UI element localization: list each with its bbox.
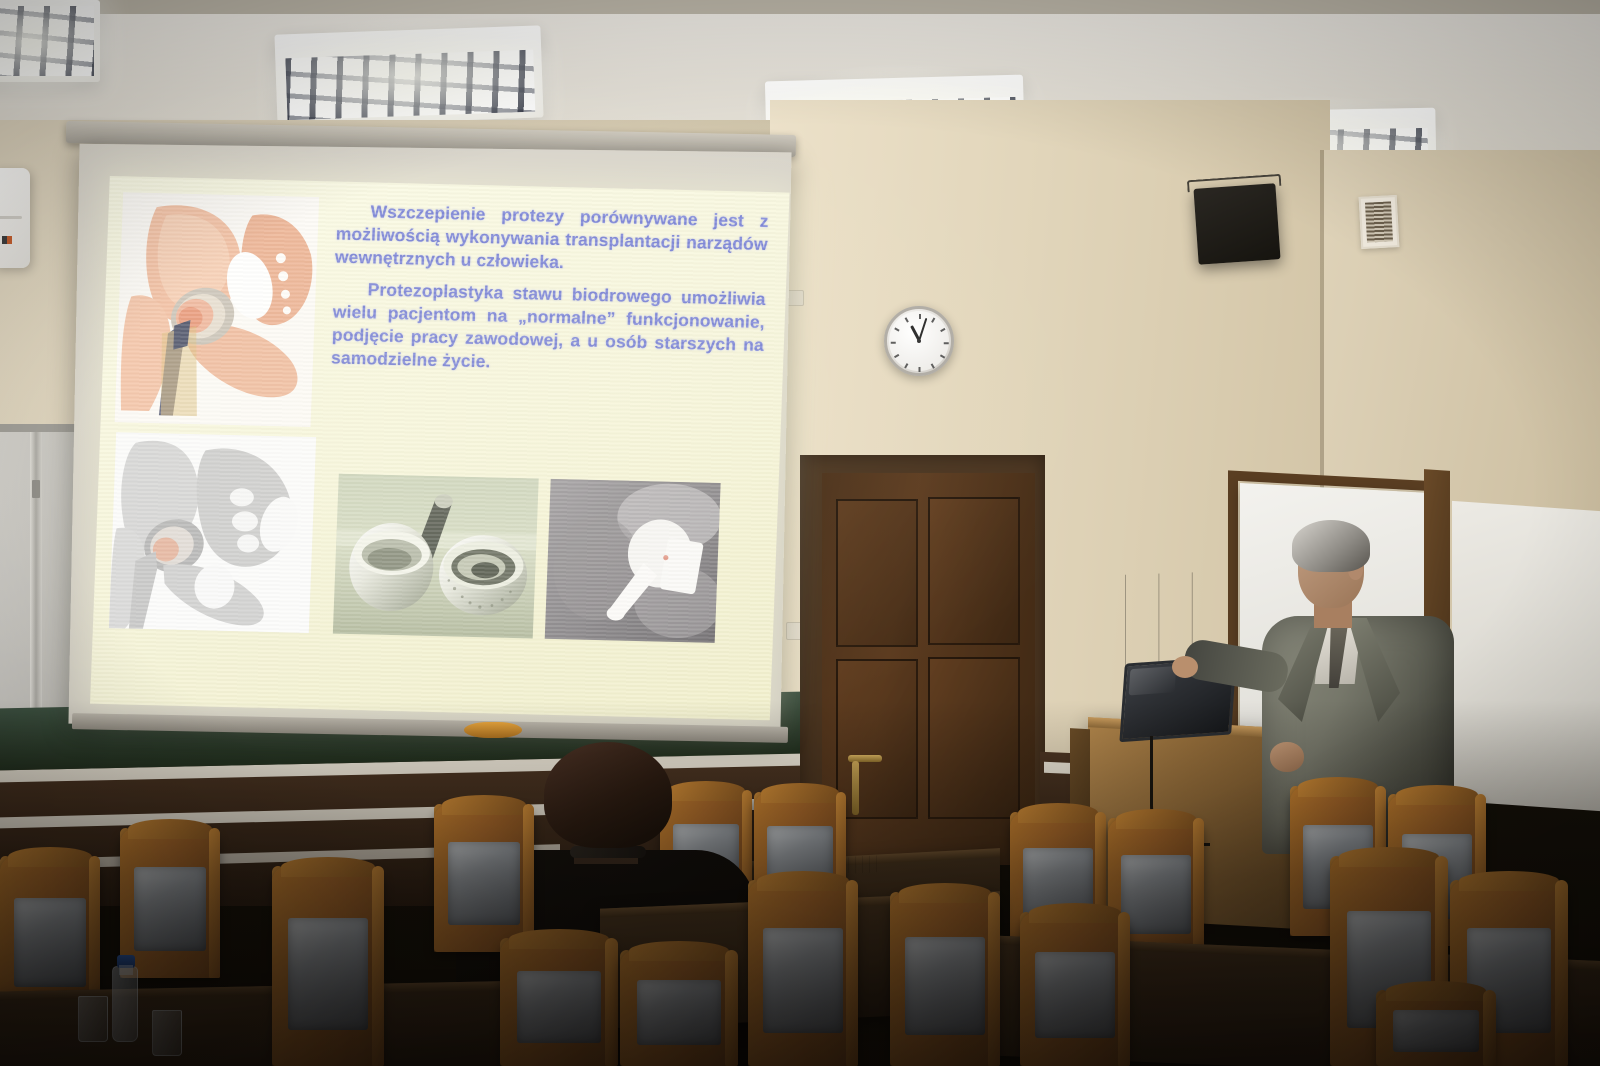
wall-clock bbox=[884, 306, 954, 376]
chair bbox=[748, 880, 858, 1066]
presenter-hair bbox=[1292, 520, 1370, 572]
door-leaf[interactable] bbox=[822, 473, 1035, 865]
slide-text-block: Wszczepienie protezy porównywane jest z … bbox=[331, 200, 769, 380]
slide-paragraph-2: Protezoplastyka stawu biodrowego umożliw… bbox=[331, 278, 766, 380]
chair bbox=[890, 892, 1000, 1066]
ac-indicator-light bbox=[2, 236, 12, 244]
ledge-object bbox=[464, 722, 522, 738]
drinking-glass bbox=[78, 996, 108, 1042]
air-conditioner-unit bbox=[0, 168, 30, 268]
chair bbox=[620, 950, 738, 1066]
slide-paragraph-1: Wszczepienie protezy porównywane jest z … bbox=[335, 200, 769, 279]
chair bbox=[500, 938, 618, 1066]
chair bbox=[1376, 990, 1496, 1066]
attendee-hair bbox=[544, 742, 672, 848]
whiteboard-far bbox=[1452, 501, 1600, 811]
slide-image-prosthesis-cups bbox=[333, 474, 539, 639]
tissue-box bbox=[848, 855, 878, 874]
slide-image-hip-xray bbox=[545, 479, 721, 643]
ceiling-beam bbox=[0, 0, 1600, 14]
wall-speaker bbox=[1193, 183, 1280, 265]
chair bbox=[120, 828, 220, 978]
presenter-hand-on-laptop bbox=[1172, 656, 1198, 678]
ceiling-light-1 bbox=[0, 0, 100, 82]
presentation-slide: Wszczepienie protezy porównywane jest z … bbox=[90, 176, 790, 720]
chair bbox=[272, 866, 384, 1066]
presenter-hand-on-lectern bbox=[1270, 742, 1304, 772]
slide-image-pelvis-model bbox=[109, 432, 316, 633]
lecture-hall-photo: Wszczepienie protezy porównywane jest z … bbox=[0, 0, 1600, 1066]
projection-screen: Wszczepienie protezy porównywane jest z … bbox=[60, 128, 800, 748]
slide-image-hip-anatomy bbox=[115, 192, 320, 427]
clock-minute-hand bbox=[918, 318, 927, 341]
screen-surface: Wszczepienie protezy porównywane jest z … bbox=[68, 144, 791, 733]
ventilation-grille bbox=[1359, 195, 1400, 249]
drinking-glass bbox=[152, 1010, 182, 1056]
ceiling-light-2 bbox=[274, 25, 543, 126]
water-bottle bbox=[112, 966, 138, 1042]
chair bbox=[434, 804, 534, 952]
door-lock-plate bbox=[852, 761, 859, 815]
chair bbox=[1020, 912, 1130, 1066]
